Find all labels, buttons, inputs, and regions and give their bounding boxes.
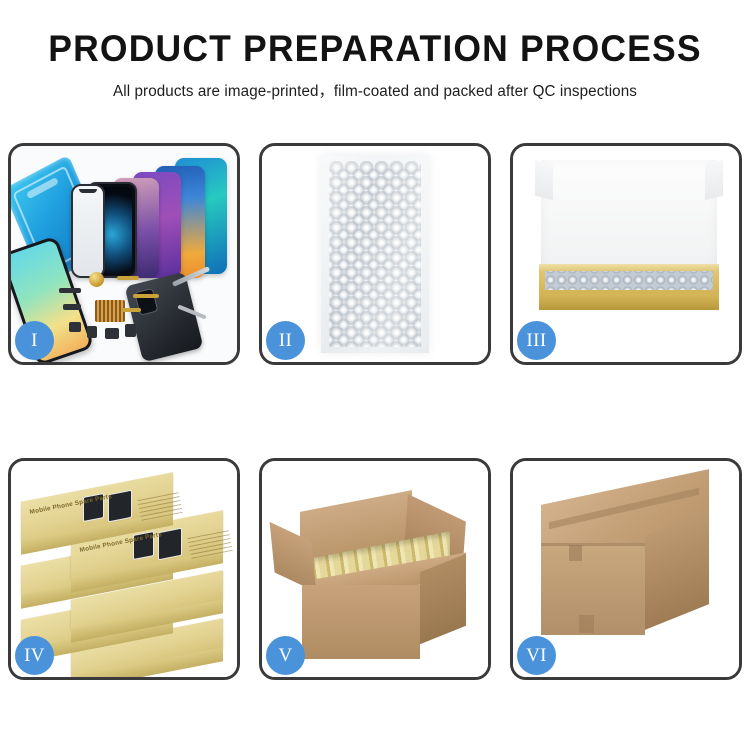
step-badge-6: VI: [517, 636, 556, 675]
step-badge-1: I: [15, 321, 54, 360]
step-panel-1: I: [8, 143, 240, 365]
page-title: PRODUCT PREPARATION PROCESS: [15, 30, 735, 69]
step-panel-5: V: [259, 458, 491, 680]
tweezers-icon: [177, 305, 206, 320]
plastic-sheen: [321, 155, 429, 353]
page-subtitle: All products are image-printed，film-coat…: [8, 79, 743, 101]
step-badge-4: IV: [15, 636, 54, 675]
part-speaker: [87, 326, 97, 338]
phone-screen-white: [71, 184, 105, 278]
inner-box-lip: [539, 264, 719, 271]
carton-tape-mark-bottom: [579, 615, 594, 633]
step-badge-3: III: [517, 321, 556, 360]
page-header: PRODUCT PREPARATION PROCESS All products…: [0, 0, 750, 101]
part-connector-1: [59, 288, 81, 293]
carton-front-edge: [541, 543, 645, 546]
inner-box-front-wall: [539, 294, 719, 310]
part-button: [105, 328, 119, 339]
flex-cable-1: [117, 276, 139, 280]
part-connector-2: [63, 304, 81, 310]
open-shipping-carton: [278, 485, 474, 665]
part-sensor: [125, 324, 136, 337]
step-panel-6: VI: [510, 458, 742, 680]
product-preparation-page: PRODUCT PREPARATION PROCESS All products…: [0, 0, 750, 750]
step-badge-2: II: [266, 321, 305, 360]
bubble-wrap-bag: [321, 155, 429, 353]
carton-tape-mark-top: [569, 545, 582, 561]
spare-parts-cluster: [59, 270, 199, 356]
phone-notch-icon: [79, 189, 97, 193]
flex-cable-3: [121, 308, 141, 312]
step-badge-5: V: [266, 636, 305, 675]
box-side-6: [71, 647, 223, 677]
step-panel-2: II: [259, 143, 491, 365]
flex-cable-2: [133, 294, 159, 298]
vibration-motor-part: [89, 272, 104, 287]
process-steps-grid: I II III: [8, 143, 742, 680]
step-panel-4: Mobile Phone Spare Parts Mobile Phone Sp…: [8, 458, 240, 680]
part-camera: [69, 322, 81, 332]
inner-box-lid: [541, 160, 717, 272]
sealed-shipping-carton: [527, 487, 723, 655]
step-panel-3: III: [510, 143, 742, 365]
carton-side-front: [302, 585, 420, 659]
